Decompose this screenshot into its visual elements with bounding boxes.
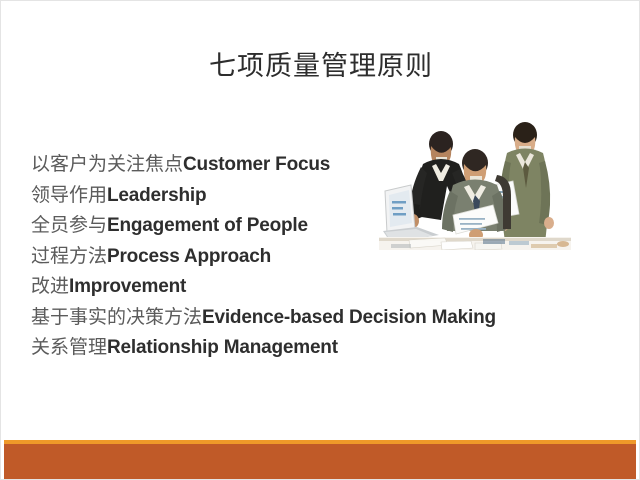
principle-label-en: Process Approach (107, 246, 271, 267)
principle-label-en: Engagement of People (107, 215, 308, 236)
principle-label-zh: 以客户为关注焦点 (31, 154, 183, 175)
principle-item: 关系管理Relationship Management (31, 333, 611, 364)
principle-label-zh: 关系管理 (31, 337, 107, 358)
principle-label-en: Relationship Management (107, 337, 338, 358)
slide-title: 七项质量管理原则 (1, 49, 640, 83)
bottom-bar-fill (4, 444, 636, 479)
principle-label-en: Improvement (69, 276, 186, 297)
principle-label-zh: 改进 (31, 276, 69, 297)
principle-label-en: Customer Focus (183, 154, 330, 175)
principle-label-zh: 领导作用 (31, 185, 107, 206)
principle-label-en: Evidence-based Decision Making (202, 307, 496, 328)
business-team-meeting-photo (379, 113, 571, 250)
principle-label-en: Leadership (107, 185, 206, 206)
presentation-slide: 七项质量管理原则 以客户为关注焦点Customer Focus 领导作用Lead… (0, 0, 640, 480)
principle-item: 改进Improvement (31, 272, 611, 303)
principle-item: 基于事实的决策方法Evidence-based Decision Making (31, 303, 611, 334)
principle-label-zh: 全员参与 (31, 215, 107, 236)
bottom-decorative-bar (4, 440, 636, 479)
principle-label-zh: 基于事实的决策方法 (31, 307, 202, 328)
principle-label-zh: 过程方法 (31, 246, 107, 267)
